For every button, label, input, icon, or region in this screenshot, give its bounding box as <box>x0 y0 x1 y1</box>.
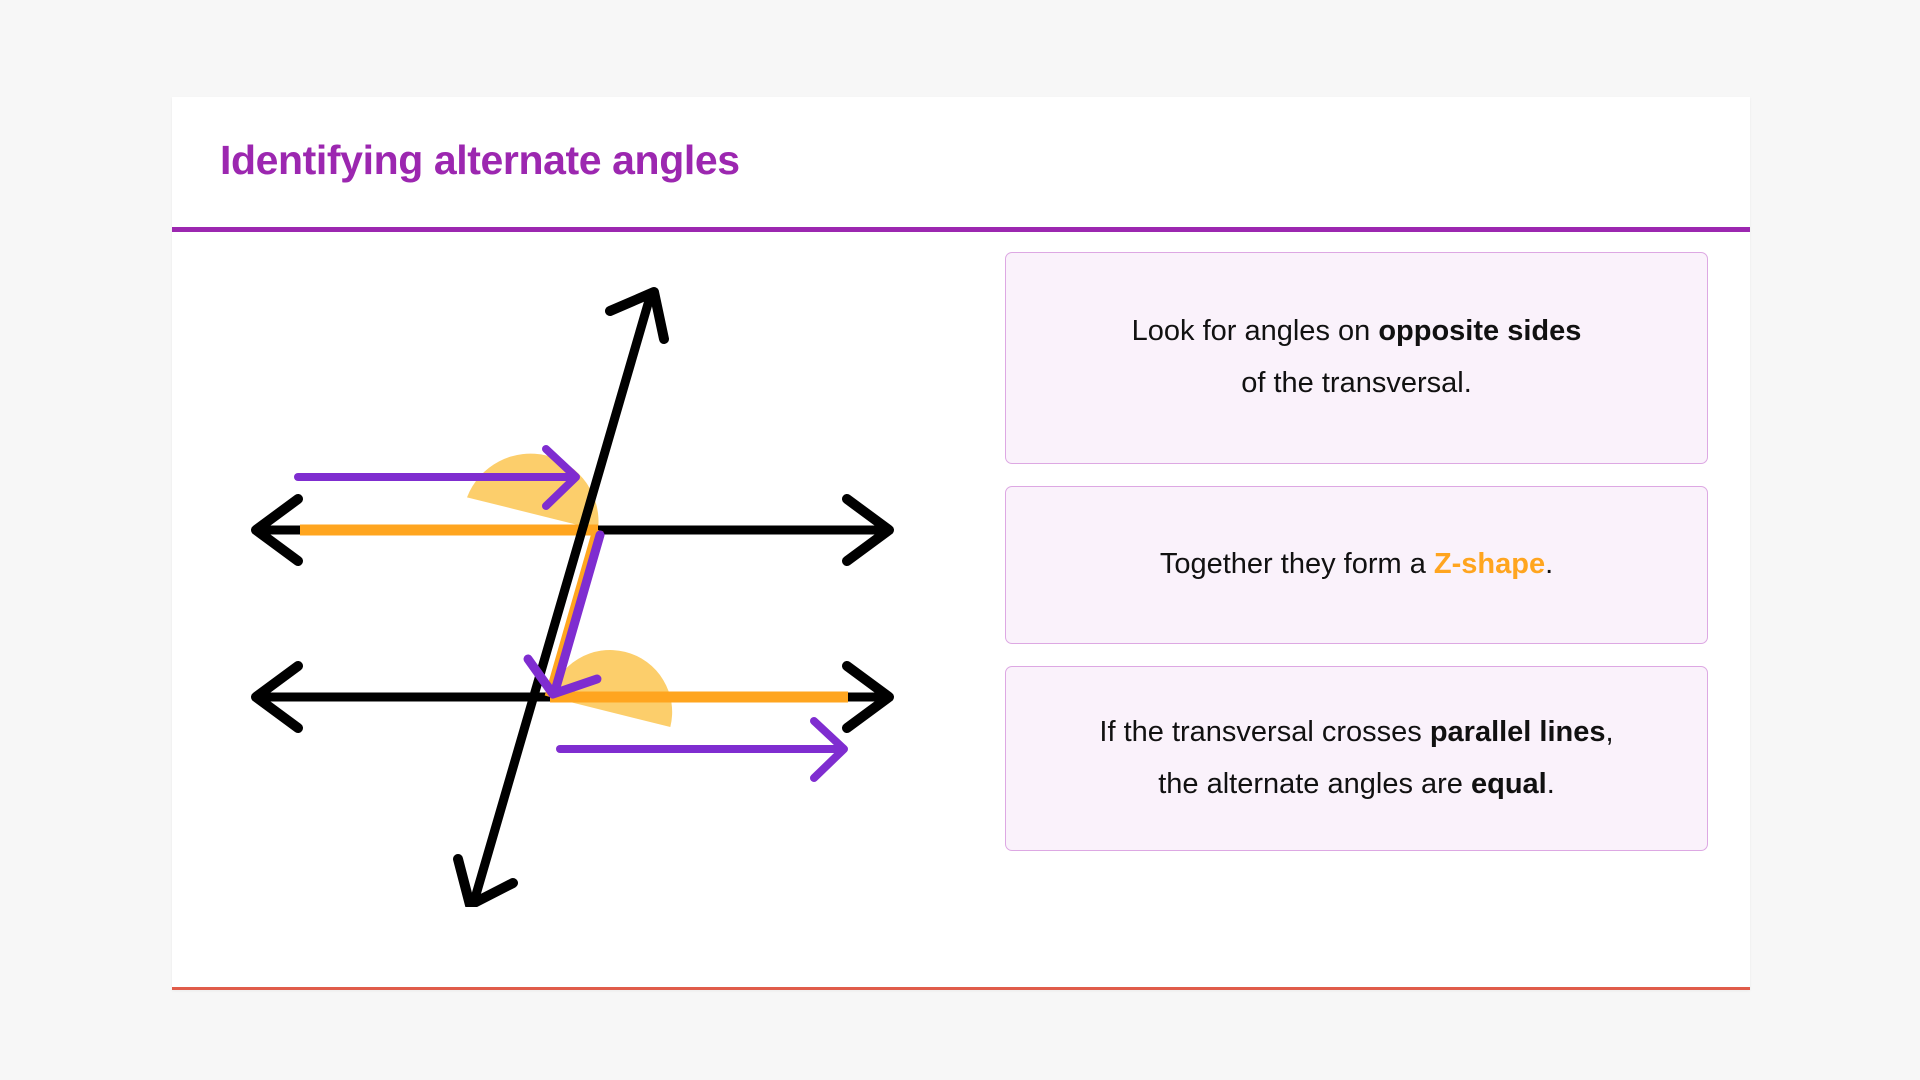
note-card-1-line-1: Look for angles on opposite sides <box>1132 306 1582 358</box>
note-card-opposite-sides: Look for angles on opposite sides of the… <box>1005 252 1708 464</box>
page-title: Identifying alternate angles <box>220 137 740 184</box>
note-card-3-text-d: the alternate angles are <box>1158 768 1471 800</box>
slide-header: Identifying alternate angles <box>172 97 1750 232</box>
slide-body: Look for angles on opposite sides of the… <box>172 232 1750 987</box>
alternate-angles-diagram <box>220 267 920 907</box>
note-card-3-text-c: , <box>1606 716 1614 748</box>
note-card-3-line-2: the alternate angles are equal. <box>1158 759 1555 811</box>
notes-pane: Look for angles on opposite sides of the… <box>970 232 1750 987</box>
note-card-3-emphasis-2: equal <box>1471 768 1547 800</box>
note-card-2-text-a: Together they form a <box>1160 548 1434 580</box>
slide-card: Identifying alternate angles <box>172 97 1750 990</box>
note-card-3-line-1: If the transversal crosses parallel line… <box>1099 707 1613 759</box>
diagram-pane <box>172 232 970 987</box>
lower-parallel-marker-arrow <box>560 721 844 778</box>
note-card-3-text-a: If the transversal crosses <box>1099 716 1429 748</box>
note-card-2-text-c: . <box>1545 548 1553 580</box>
note-card-1-text-a: Look for angles on <box>1132 315 1379 347</box>
note-card-2-line-1: Together they form a Z-shape. <box>1160 539 1553 591</box>
note-card-parallel-equal: If the transversal crosses parallel line… <box>1005 666 1708 851</box>
note-card-1-line-2: of the transversal. <box>1241 358 1472 410</box>
note-card-z-shape: Together they form a Z-shape. <box>1005 486 1708 644</box>
note-card-3-emphasis-1: parallel lines <box>1430 716 1606 748</box>
note-card-3-text-f: . <box>1547 768 1555 800</box>
transversal-line <box>458 292 664 905</box>
note-card-2-emphasis: Z-shape <box>1434 548 1545 580</box>
note-card-1-emphasis: opposite sides <box>1378 315 1581 347</box>
